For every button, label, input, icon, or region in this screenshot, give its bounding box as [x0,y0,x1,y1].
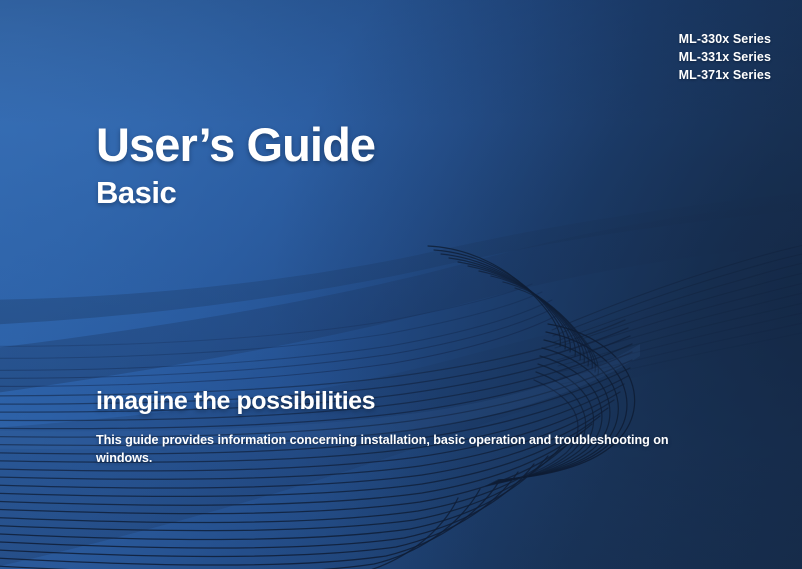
page-title: User’s Guide [96,118,375,172]
guide-description: This guide provides information concerni… [96,432,686,467]
background-vignette [0,0,802,569]
user-guide-cover: ML-330x Series ML-331x Series ML-371x Se… [0,0,802,569]
model-series-item-1: ML-330x Series [679,30,771,48]
model-series-list: ML-330x Series ML-331x Series ML-371x Se… [679,30,771,84]
page-subtitle: Basic [96,175,375,211]
model-series-item-2: ML-331x Series [679,48,771,66]
title-block: User’s Guide Basic [96,118,375,211]
model-series-item-3: ML-371x Series [679,66,771,84]
brand-tagline: imagine the possibilities [96,386,375,416]
guide-description-line-2: windows. [96,450,686,468]
guide-description-line-1: This guide provides information concerni… [96,432,686,450]
